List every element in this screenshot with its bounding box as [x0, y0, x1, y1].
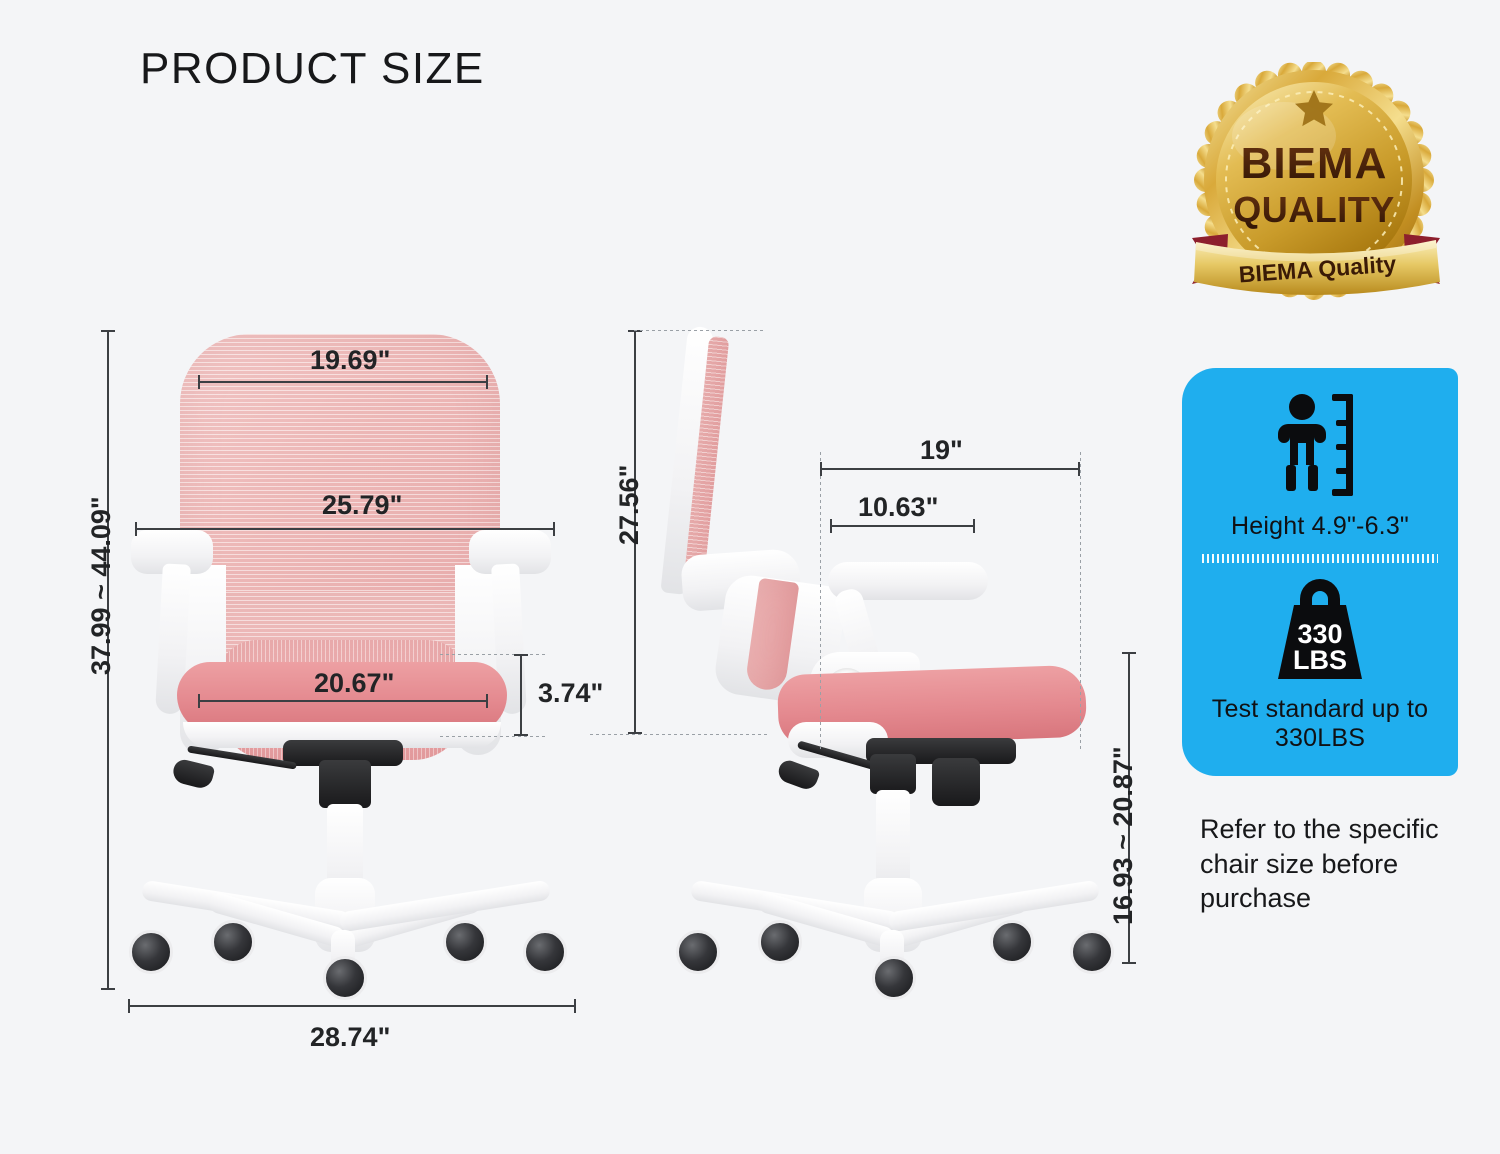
ext-backrest-bottom: [590, 734, 770, 735]
caster-front-2: [211, 920, 255, 964]
dim-backrest-height: 27.56": [614, 465, 645, 545]
dim-overall-height: 37.99 ~ 44.09": [86, 496, 117, 675]
weight-330lbs-icon: 330 LBS: [1264, 573, 1376, 685]
dim-overall-width: 25.79": [322, 490, 402, 521]
dimline-seat-depth-total: [820, 468, 1080, 470]
purchase-note-line3: purchase: [1200, 881, 1468, 916]
backrest-mesh-texture: [180, 334, 500, 634]
spec-panel: Height 4.9"-6.3" 330 LBS Test standard u…: [1182, 368, 1458, 776]
ext-seat-bottom: [440, 736, 545, 737]
side-tension-knob: [932, 758, 980, 806]
product-size-infographic: PRODUCT SIZE: [0, 0, 1500, 1154]
dimline-seat-thickness: [520, 654, 522, 736]
dimline-base-width: [128, 1005, 576, 1007]
caster-front-5: [523, 930, 567, 974]
side-gas-collar: [870, 754, 916, 794]
side-view-chair: [660, 330, 1100, 1000]
dimline-seat-width: [198, 700, 488, 702]
weight-label-line2: 330LBS: [1275, 724, 1365, 754]
caster-side-4: [990, 920, 1034, 964]
ext-depth-total-right: [1080, 452, 1081, 750]
front-view-chair: [125, 330, 585, 1000]
side-lever-handle: [775, 758, 820, 792]
svg-text:BIEMA: BIEMA: [1241, 139, 1388, 188]
dim-base-width: 28.74": [310, 1022, 390, 1053]
dim-seat-depth: 10.63": [858, 492, 938, 523]
caster-side-3: [872, 956, 916, 1000]
svg-text:LBS: LBS: [1293, 645, 1347, 675]
weight-label-line1: Test standard up to: [1212, 695, 1428, 725]
biema-quality-badge: BIEMA QUALITY BIEMA Quality: [1178, 62, 1454, 312]
person-height-ruler-icon: [1254, 390, 1386, 500]
caster-side-5: [1070, 930, 1114, 974]
purchase-note-line1: Refer to the specific: [1200, 812, 1468, 847]
dimline-backrest-width: [198, 381, 488, 383]
front-gas-cylinder-collar: [319, 760, 371, 808]
dim-backrest-width: 19.69": [310, 345, 390, 376]
dimline-overall-width: [135, 528, 555, 530]
front-lever-handle: [171, 758, 216, 791]
dim-seat-depth-total: 19": [920, 435, 963, 466]
page-title: PRODUCT SIZE: [140, 44, 485, 94]
caster-side-1: [676, 930, 720, 974]
dim-seat-thickness: 3.74": [538, 678, 603, 709]
height-label: Height 4.9"-6.3": [1231, 512, 1409, 542]
purchase-note: Refer to the specific chair size before …: [1200, 812, 1468, 916]
caster-front-4: [443, 920, 487, 964]
ext-backrest-top: [634, 330, 764, 331]
dimline-seat-depth: [830, 525, 975, 527]
svg-text:QUALITY: QUALITY: [1233, 189, 1395, 230]
ext-seat-top: [440, 654, 545, 655]
caster-front-1: [129, 930, 173, 974]
front-backrest: [180, 334, 500, 634]
caster-side-2: [758, 920, 802, 964]
dim-seat-width: 20.67": [314, 668, 394, 699]
dim-seat-height: 16.93 ~ 20.87": [1108, 746, 1139, 925]
panel-divider: [1202, 554, 1438, 563]
ext-depth-total-left: [820, 452, 821, 750]
caster-front-3: [323, 956, 367, 1000]
purchase-note-line2: chair size before: [1200, 847, 1468, 882]
